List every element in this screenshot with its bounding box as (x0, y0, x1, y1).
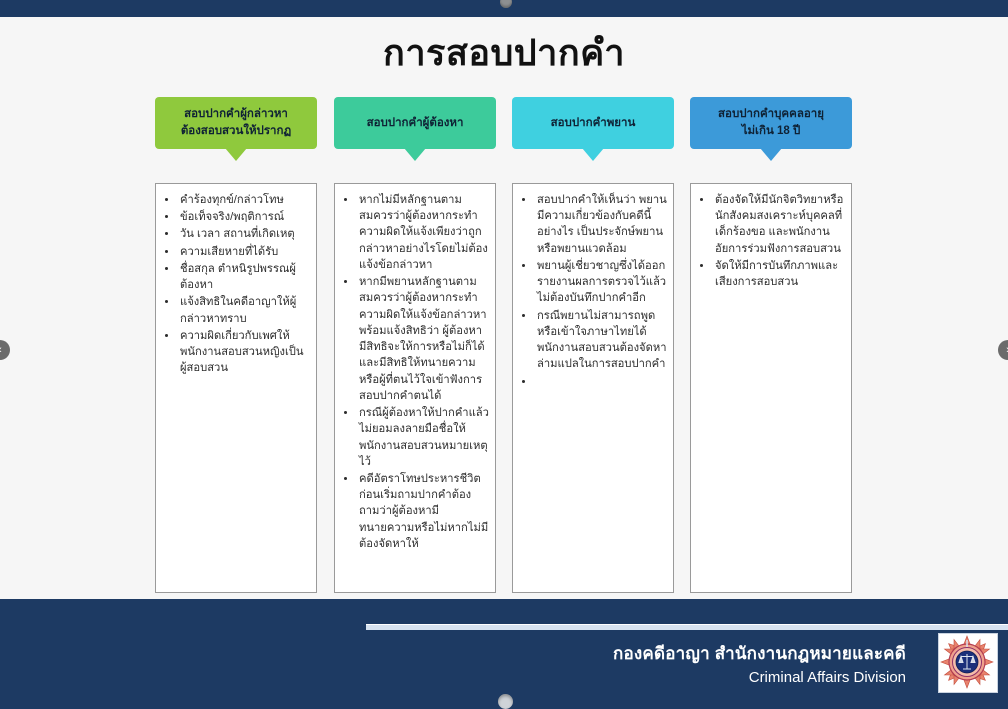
list-item: คำร้องทุกข์/กล่าวโทษ (178, 192, 310, 208)
list-item: ชื่อสกุล ตำหนิรูปพรรณผู้ต้องหา (178, 261, 310, 293)
header-pointer-arrow (225, 148, 247, 161)
footer-english-name: Criminal Affairs Division (613, 667, 906, 688)
footer-divider-line (366, 624, 1008, 630)
column-minor: สอบปากคำบุคคลอายุ ไม่เกิน 18 ปี ต้องจัดใ… (690, 97, 852, 149)
header-pointer-arrow (582, 148, 604, 161)
list-item: ข้อเท็จจริง/พฤติการณ์ (178, 209, 310, 225)
header-pointer-arrow (760, 148, 782, 161)
column-body-witness: สอบปากคำให้เห็นว่า พยานมีความเกี่ยวข้องก… (512, 183, 674, 593)
list-item: ต้องจัดให้มีนักจิตวิทยาหรือนักสังคมสงเคร… (713, 192, 845, 257)
list-item: จัดให้มีการบันทึกภาพและเสียงการสอบสวน (713, 258, 845, 290)
column-body-minor: ต้องจัดให้มีนักจิตวิทยาหรือนักสังคมสงเคร… (690, 183, 852, 593)
column-suspect: สอบปากคำผู้ต้องหา หากไม่มีหลักฐานตามสมคว… (334, 97, 496, 149)
footer-organization: กองคดีอาญา สำนักงานกฎหมายและคดี Criminal… (613, 643, 906, 688)
bullet-list-suspect: หากไม่มีหลักฐานตามสมควรว่าผู้ต้องหากระทำ… (339, 192, 489, 552)
slide-footer: กองคดีอาญา สำนักงานกฎหมายและคดี Criminal… (0, 599, 1008, 705)
header-pointer-arrow (404, 148, 426, 161)
column-header-label: สอบปากคำผู้กล่าวหา ต้องสอบสวนให้ปรากฏ (181, 106, 291, 139)
list-item: สอบปากคำให้เห็นว่า พยานมีความเกี่ยวข้องก… (535, 192, 667, 257)
column-witness: สอบปากคำพยาน สอบปากคำให้เห็นว่า พยานมีคว… (512, 97, 674, 149)
list-item: วัน เวลา สถานที่เกิดเหตุ (178, 226, 310, 242)
column-body-accuser: คำร้องทุกข์/กล่าวโทษ ข้อเท็จจริง/พฤติการ… (155, 183, 317, 593)
column-header-minor[interactable]: สอบปากคำบุคคลอายุ ไม่เกิน 18 ปี (690, 97, 852, 149)
emblem-icon (939, 634, 995, 690)
bullet-list-witness: สอบปากคำให้เห็นว่า พยานมีความเกี่ยวข้องก… (517, 192, 667, 390)
column-header-accuser[interactable]: สอบปากคำผู้กล่าวหา ต้องสอบสวนให้ปรากฏ (155, 97, 317, 149)
presentation-slide: การสอบปากคำ สอบปากคำผู้กล่าวหา ต้องสอบสว… (0, 0, 1008, 705)
list-item: หากมีพยานหลักฐานตามสมควรว่าผู้ต้องหากระท… (357, 274, 489, 404)
column-header-label: สอบปากคำพยาน (551, 115, 636, 132)
column-accuser: สอบปากคำผู้กล่าวหา ต้องสอบสวนให้ปรากฏ คำ… (155, 97, 317, 149)
list-item: ความเสียหายที่ได้รับ (178, 244, 310, 260)
column-header-suspect[interactable]: สอบปากคำผู้ต้องหา (334, 97, 496, 149)
footer-thai-name: กองคดีอาญา สำนักงานกฎหมายและคดี (613, 643, 906, 666)
list-item: พยานผู้เชี่ยวชาญซึ่งได้ออกรายงานผลการตรว… (535, 258, 667, 307)
slide-content-area: การสอบปากคำ สอบปากคำผู้กล่าวหา ต้องสอบสว… (0, 17, 1008, 599)
list-item: คดีอัตราโทษประหารชีวิตก่อนเริ่มถามปากคำต… (357, 471, 489, 552)
bullet-list-minor: ต้องจัดให้มีนักจิตวิทยาหรือนักสังคมสงเคร… (695, 192, 845, 290)
list-item: กรณีพยานไม่สามารถพูดหรือเข้าใจภาษาไทยได้… (535, 308, 667, 373)
list-item: หากไม่มีหลักฐานตามสมควรว่าผู้ต้องหากระทำ… (357, 192, 489, 273)
list-item: กรณีผู้ต้องหาให้ปากคำแล้วไม่ยอมลงลายมือช… (357, 405, 489, 470)
column-header-label: สอบปากคำผู้ต้องหา (367, 115, 464, 132)
bullet-list-accuser: คำร้องทุกข์/กล่าวโทษ ข้อเท็จจริง/พฤติการ… (160, 192, 310, 377)
list-item-empty (535, 374, 667, 390)
columns-container: สอบปากคำผู้กล่าวหา ต้องสอบสวนให้ปรากฏ คำ… (155, 97, 855, 597)
column-body-suspect: หากไม่มีหลักฐานตามสมควรว่าผู้ต้องหากระทำ… (334, 183, 496, 593)
list-item: ความผิดเกี่ยวกับเพศให้พนักงานสอบสวนหญิงเ… (178, 328, 310, 377)
column-header-witness[interactable]: สอบปากคำพยาน (512, 97, 674, 149)
bottom-handle-dot[interactable] (498, 694, 513, 709)
criminal-affairs-division-emblem (938, 633, 998, 693)
column-header-label: สอบปากคำบุคคลอายุ ไม่เกิน 18 ปี (718, 106, 824, 139)
page-title: การสอบปากคำ (0, 32, 1008, 73)
list-item: แจ้งสิทธิในคดีอาญาให้ผู้กล่าวหาทราบ (178, 294, 310, 326)
